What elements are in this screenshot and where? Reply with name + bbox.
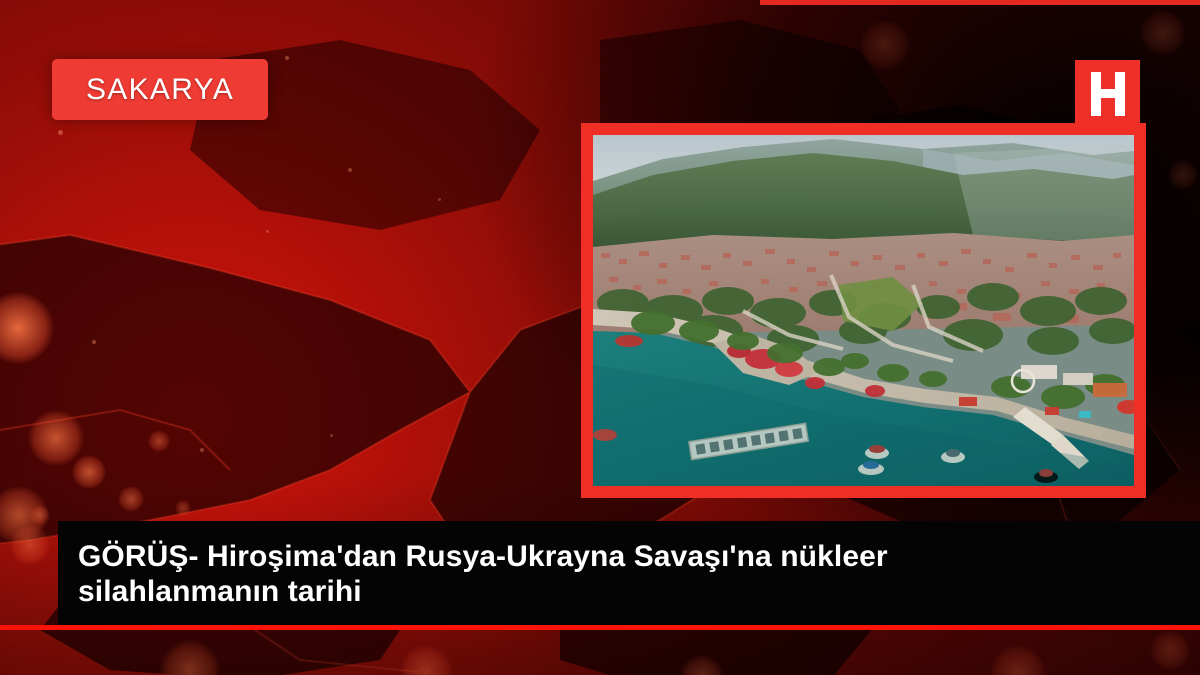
headline-band: GÖRÜŞ- Hiroşima'dan Rusya-Ukrayna Savaşı…: [58, 521, 1200, 626]
page-title: GÖRÜŞ- Hiroşima'dan Rusya-Ukrayna Savaşı…: [58, 539, 1106, 609]
bottom-accent-rule: [0, 625, 1200, 630]
news-card: SAKARYA: [0, 0, 1200, 675]
province-badge: SAKARYA: [52, 59, 268, 120]
photo-frame: [581, 123, 1146, 498]
letter-h-icon: [1091, 72, 1125, 116]
aerial-lake-photo: [593, 135, 1134, 486]
haberler-h-logo[interactable]: [1075, 60, 1140, 128]
top-accent-rule: [760, 0, 1200, 5]
province-badge-label: SAKARYA: [86, 73, 234, 107]
